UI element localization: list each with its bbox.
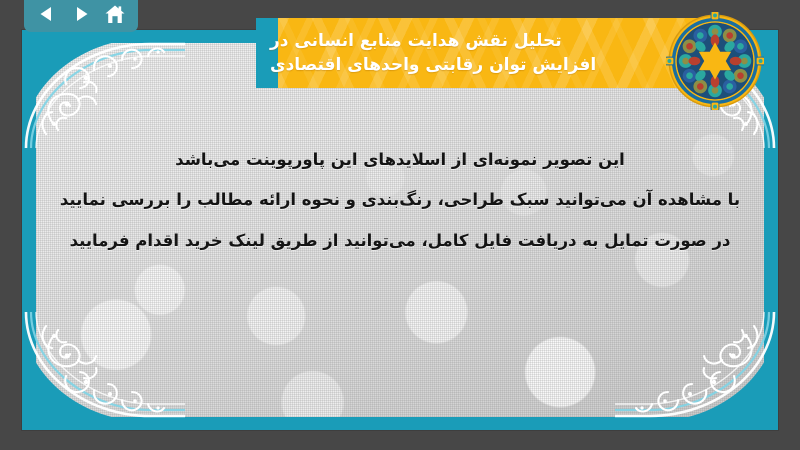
title-line-2: افزایش توان رقابتی واحدهای اقتصادی <box>270 53 596 77</box>
slide-body-text: این تصویر نمونه‌ای از اسلایدهای این پاور… <box>52 140 748 261</box>
triangle-right-icon <box>71 4 91 24</box>
body-line-3: در صورت تمایل به دریافت فایل کامل، می‌تو… <box>52 221 748 261</box>
title-line-1: تحلیل نقش هدایت منابع انسانی در <box>270 29 562 53</box>
slide-viewer: این تصویر نمونه‌ای از اسلایدهای این پاور… <box>0 0 800 450</box>
slide-frame: این تصویر نمونه‌ای از اسلایدهای این پاور… <box>22 30 778 430</box>
persian-mandala-ornament <box>666 12 764 110</box>
next-slide-button[interactable] <box>67 1 95 27</box>
body-line-1: این تصویر نمونه‌ای از اسلایدهای این پاور… <box>52 140 748 180</box>
home-icon <box>104 4 126 25</box>
title-text-block: تحلیل نقش هدایت منابع انسانی در افزایش ت… <box>256 18 712 88</box>
triangle-left-icon <box>37 4 57 24</box>
home-button[interactable] <box>101 1 129 27</box>
title-banner: تحلیل نقش هدایت منابع انسانی در افزایش ت… <box>256 18 712 88</box>
previous-slide-button[interactable] <box>33 1 61 27</box>
body-line-2: با مشاهده آن می‌توانید سبک طراحی، رنگ‌بن… <box>52 180 748 220</box>
navigation-toolbar <box>24 0 138 32</box>
